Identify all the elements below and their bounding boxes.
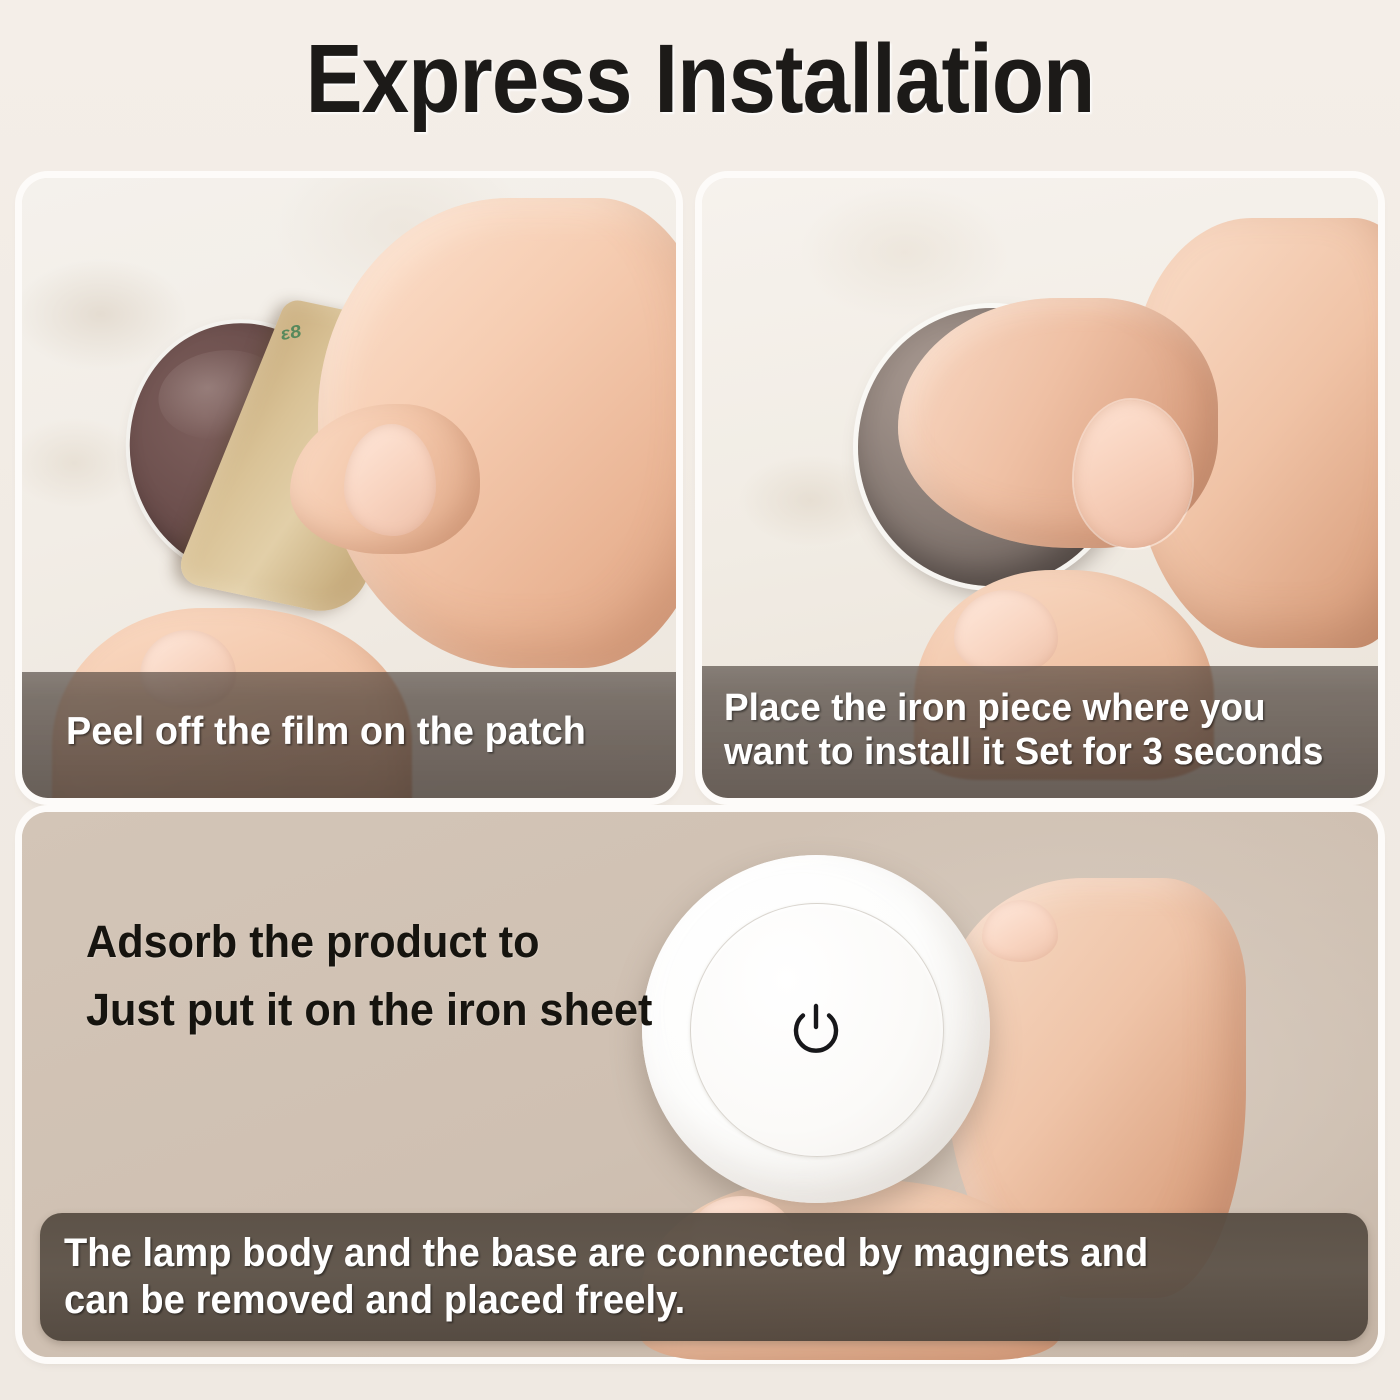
headline-adsorb: Adsorb the product to Just put it on the… xyxy=(86,908,652,1045)
page-title: Express Installation xyxy=(84,28,1316,130)
caption-bar-peel: Peel off the film on the patch xyxy=(22,672,676,798)
caption-bar-adsorb: The lamp body and the base are connected… xyxy=(40,1213,1368,1341)
lamp-body xyxy=(642,855,990,1203)
caption-text-adsorb: The lamp body and the base are connected… xyxy=(64,1230,1148,1324)
photo-peel-film: ε8 Peel off the film on the patch xyxy=(22,178,676,798)
caption-text-peel: Peel off the film on the patch xyxy=(66,709,586,755)
fingernail-upper xyxy=(982,900,1058,962)
photo-place-iron: Place the iron piece where you want to i… xyxy=(702,178,1378,798)
caption-bar-place: Place the iron piece where you want to i… xyxy=(702,666,1378,798)
power-icon xyxy=(790,1002,842,1056)
step-card-peel: ε8 Peel off the film on the patch xyxy=(22,178,676,798)
step-card-place: Place the iron piece where you want to i… xyxy=(702,178,1378,798)
caption-text-place: Place the iron piece where you want to i… xyxy=(724,686,1324,775)
infographic-page: Express Installation ε8 Peel off the fil… xyxy=(0,0,1400,1400)
